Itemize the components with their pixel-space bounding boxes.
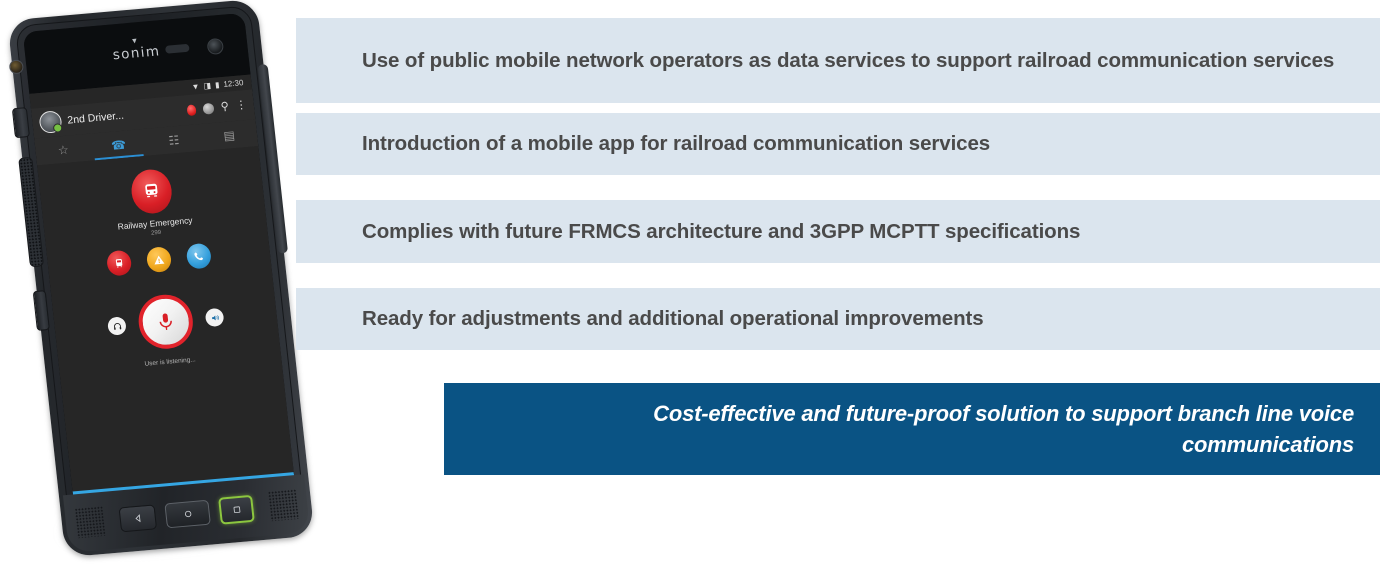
feature-bar: Ready for adjustments and additional ope… <box>296 288 1380 350</box>
conclusion-callout: Cost-effective and future-proof solution… <box>444 383 1380 475</box>
feature-bar: Complies with future FRMCS architecture … <box>296 200 1380 263</box>
feature-bar-text: Ready for adjustments and additional ope… <box>362 304 984 333</box>
feature-bar: Introduction of a mobile app for railroa… <box>296 113 1380 175</box>
feature-bar-text: Introduction of a mobile app for railroa… <box>362 129 990 158</box>
conclusion-callout-text: Cost-effective and future-proof solution… <box>484 398 1354 460</box>
feature-bar-text: Use of public mobile network operators a… <box>362 46 1334 75</box>
feature-bar: Use of public mobile network operators a… <box>296 18 1380 103</box>
feature-bar-text: Complies with future FRMCS architecture … <box>362 217 1080 246</box>
feature-bars-area: Use of public mobile network operators a… <box>0 0 1394 577</box>
